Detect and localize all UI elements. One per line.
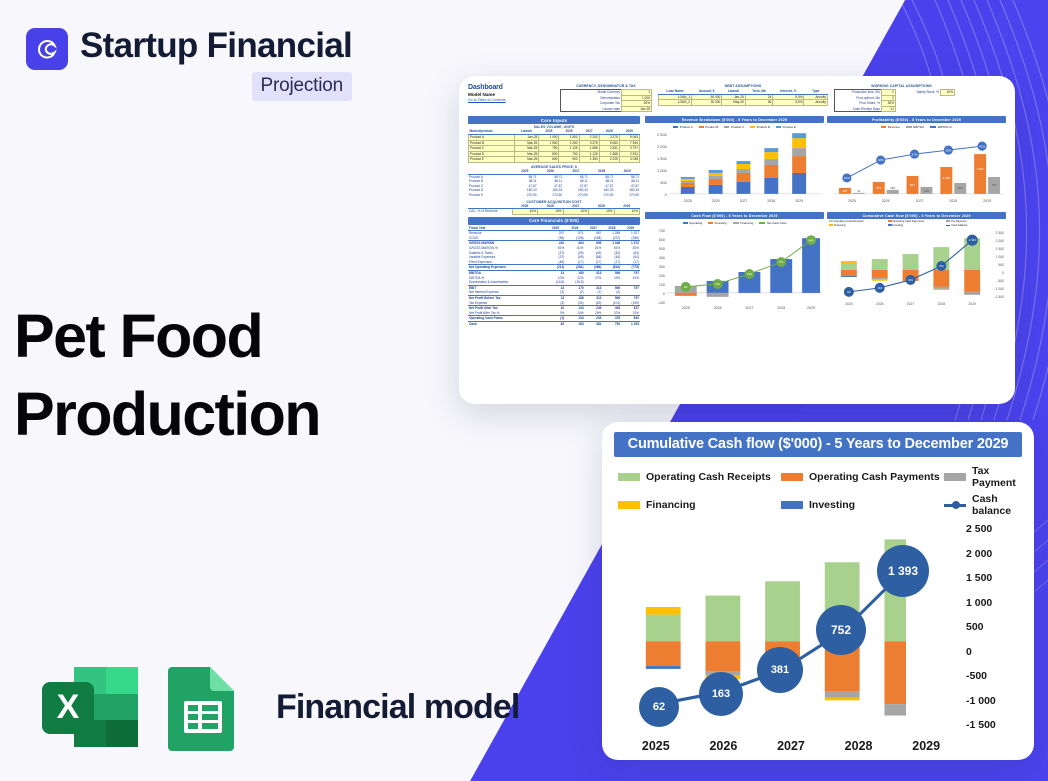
svg-text:101: 101	[715, 282, 720, 286]
svg-text:2028: 2028	[938, 302, 946, 306]
mini-chart-legend: Operating Investing Financing Net Cash F…	[645, 219, 824, 226]
svg-text:1 000: 1 000	[996, 255, 1005, 259]
svg-text:218: 218	[747, 273, 752, 277]
svg-text:2029: 2029	[807, 306, 815, 310]
data-point-bubble: 1 393	[877, 545, 929, 597]
mini-chart-title: Cash Flow ($'000) - 5 Years to December …	[645, 212, 824, 219]
svg-text:2 000: 2 000	[996, 240, 1005, 244]
working-capital-section-header: WORKING CAPITAL ASSUMPTIONS	[834, 84, 969, 88]
legend-line-cash-balance	[944, 504, 966, 507]
svg-text:400: 400	[659, 256, 665, 260]
page-title-line1: Pet Food	[14, 297, 320, 375]
data-point-bubble: 381	[757, 647, 803, 693]
svg-text:62: 62	[684, 285, 688, 289]
svg-text:185: 185	[890, 186, 895, 190]
legend-item: Operating Cash Payments	[781, 465, 944, 489]
svg-text:640: 640	[809, 239, 814, 243]
chart-x-axis-labels: 2025 2026 2027 2028 2029	[622, 739, 960, 753]
table-of-contents-link[interactable]: Go to Table of Contents	[468, 98, 554, 102]
mini-chart-plot: 10%32% 37%39% 41% 297571 8571 085 1 927 …	[827, 130, 1006, 208]
svg-text:381: 381	[908, 278, 913, 282]
svg-text:37%: 37%	[912, 153, 918, 157]
model-name-label: Model Name	[468, 92, 554, 97]
mini-chart-legend: Product A Product B Product C Product D …	[645, 123, 824, 130]
svg-text:1 393: 1 393	[969, 239, 977, 243]
legend-swatch-operating-cash-payments	[781, 473, 803, 481]
debt-table-row[interactable]: LOAN_2 30 000 May-25 36 5,0% Annuity	[659, 100, 828, 106]
page-title: Pet Food Production	[14, 297, 320, 453]
legend-item: Tax Payment	[944, 465, 1022, 489]
svg-text:2029: 2029	[968, 302, 976, 306]
svg-text:-1 000: -1 000	[994, 287, 1004, 291]
debt-section-header: DEBT ASSUMPTIONS	[658, 84, 828, 88]
legend-swatch-financing	[618, 501, 640, 509]
google-sheets-icon	[164, 661, 242, 753]
svg-text:200: 200	[659, 274, 665, 278]
svg-text:2 000: 2 000	[657, 144, 668, 149]
svg-text:2026: 2026	[876, 302, 884, 306]
mini-chart-plot: 2 500 2 000 1 500 1 000 500 0	[645, 130, 824, 208]
mini-chart-plot: 700 600 500 400 300 200 100 0 -100	[645, 226, 824, 314]
svg-text:X: X	[57, 688, 80, 726]
svg-text:300: 300	[659, 265, 665, 269]
row-value: 62	[546, 321, 565, 326]
chart-title: Cumulative Cash flow ($'000) - 5 Years t…	[614, 432, 1022, 457]
mini-chart-legend: Revenue EBITDA EBITDA %	[827, 123, 1006, 130]
svg-text:2025: 2025	[848, 199, 856, 203]
brand-subtitle: Projection	[252, 72, 353, 101]
svg-text:1 500: 1 500	[657, 156, 668, 161]
svg-text:2029: 2029	[795, 199, 803, 203]
legend-item: Operating Cash Receipts	[618, 465, 781, 489]
file-format-label: Financial model	[276, 688, 519, 727]
chart-plot-area: 62 163 381 752 1 393 2 500 2 000 1 500 1…	[614, 527, 1022, 727]
svg-text:100: 100	[659, 283, 665, 287]
row-value: 163	[565, 321, 584, 326]
svg-text:1 000: 1 000	[657, 168, 668, 173]
svg-text:2027: 2027	[745, 306, 753, 310]
legend-swatch-operating-cash-receipts	[618, 473, 640, 481]
svg-text:2026: 2026	[882, 199, 890, 203]
svg-text:10%: 10%	[844, 177, 850, 181]
page-title-line2: Production	[14, 375, 320, 453]
launch-date-row-label: Launch date	[561, 106, 622, 112]
legend-swatch-tax-payment	[944, 473, 966, 481]
svg-text:2 500: 2 500	[657, 133, 668, 138]
svg-text:500: 500	[659, 247, 665, 251]
launch-date-row-value[interactable]: Jan-25	[622, 106, 652, 112]
core-financials-band: Core Financials ($'000)	[468, 217, 640, 225]
mini-chart-revenue-breakdown[interactable]: Revenue Breakdown ($'000) - 5 Years to D…	[645, 116, 824, 209]
svg-text:600: 600	[659, 239, 665, 243]
svg-text:2029: 2029	[983, 199, 991, 203]
svg-text:857: 857	[910, 183, 915, 187]
brand-logo: Startup Financial Projection	[26, 24, 352, 101]
svg-text:797: 797	[992, 183, 997, 187]
svg-text:62: 62	[847, 290, 851, 294]
svg-text:39%: 39%	[945, 149, 951, 153]
svg-text:1 927: 1 927	[976, 167, 984, 171]
svg-text:32%: 32%	[878, 159, 884, 163]
svg-text:-500: -500	[997, 279, 1004, 283]
svg-text:-100: -100	[658, 301, 665, 305]
svg-text:2027: 2027	[739, 199, 747, 203]
svg-text:2025: 2025	[845, 302, 853, 306]
data-point-bubble: 752	[816, 605, 866, 655]
svg-text:0: 0	[1002, 271, 1004, 275]
svg-text:31: 31	[857, 189, 861, 193]
cumulative-cash-flow-chart-card[interactable]: Cumulative Cash flow ($'000) - 5 Years t…	[602, 422, 1034, 760]
chart-y-axis-labels: 2 500 2 000 1 500 1 000 500 0 -500 -1 00…	[966, 523, 1022, 731]
svg-text:500: 500	[660, 180, 667, 185]
svg-text:2028: 2028	[777, 306, 785, 310]
dashboard-screenshot-card[interactable]: Dashboard Model Name Go to Table of Cont…	[459, 76, 1015, 404]
svg-text:1 500: 1 500	[996, 247, 1005, 251]
file-format-row: X Financial model	[36, 661, 519, 753]
mini-chart-title: Revenue Breakdown ($'000) - 5 Years to D…	[645, 116, 824, 123]
table-row[interactable]: Product E 270,50 270,50 270,50 270,50 27…	[468, 193, 640, 198]
svg-text:2028: 2028	[767, 199, 775, 203]
table-row[interactable]: CAC, % of Revenue 10% 10% 10% 10% 10%	[468, 209, 640, 215]
svg-text:0: 0	[665, 192, 668, 197]
legend-item: Investing	[781, 493, 944, 517]
svg-text:1 085: 1 085	[943, 176, 951, 180]
mini-chart-title: Cumulative Cash flow ($'000) - 5 Years t…	[827, 212, 1006, 219]
chart-legend: Operating Cash Receipts Operating Cash P…	[614, 465, 1022, 517]
svg-text:2027: 2027	[915, 199, 923, 203]
row-value: 1 393	[621, 321, 640, 326]
svg-text:313: 313	[924, 189, 929, 193]
mini-chart-plot: 2 500 2 000 1 500 1 000 500 0 -500 -1 00…	[827, 228, 1006, 310]
svg-text:2025: 2025	[684, 199, 692, 203]
svg-text:163: 163	[877, 286, 882, 290]
legend-item: Financing	[618, 493, 781, 517]
svg-text:2026: 2026	[714, 306, 722, 310]
dashboard-title: Dashboard	[468, 84, 554, 91]
startup-financial-logo-icon	[26, 28, 68, 70]
mini-chart-title: Profitability ($'000) - 5 Years to Decem…	[827, 116, 1006, 123]
svg-text:571: 571	[876, 186, 881, 190]
legend-swatch-investing	[781, 501, 803, 509]
mini-chart-cumulative-cash-flow[interactable]: Cumulative Cash flow ($'000) - 5 Years t…	[827, 212, 1006, 315]
svg-text:506: 506	[958, 186, 963, 190]
data-point-bubble: 163	[699, 672, 743, 716]
svg-text:2025: 2025	[682, 306, 690, 310]
svg-text:500: 500	[998, 263, 1004, 267]
svg-text:700: 700	[659, 230, 665, 234]
mini-chart-cash-flow[interactable]: Cash Flow ($'000) - 5 Years to December …	[645, 212, 824, 315]
core-inputs-band: Core Inputs	[468, 116, 640, 124]
svg-text:752: 752	[939, 264, 944, 268]
svg-text:-1 500: -1 500	[994, 295, 1004, 299]
table-row[interactable]: Cash621633817521 393	[468, 321, 640, 326]
svg-text:371: 371	[779, 261, 784, 265]
svg-text:41%: 41%	[979, 145, 985, 149]
row-label: Cash	[468, 321, 546, 326]
mini-chart-profitability[interactable]: Profitability ($'000) - 5 Years to Decem…	[827, 116, 1006, 209]
svg-text:2026: 2026	[712, 199, 720, 203]
svg-text:297: 297	[842, 189, 847, 193]
legend-item: Cash balance	[944, 493, 1022, 517]
brand-title: Startup Financial	[80, 24, 352, 68]
mini-chart-legend: Operating Cash Receipts Operating Cash P…	[827, 219, 1006, 228]
svg-text:2027: 2027	[907, 302, 915, 306]
row-value: 752	[602, 321, 621, 326]
svg-text:0: 0	[663, 292, 665, 296]
currency-section-header: CURRENCY, DENOMINATOR & TAX	[560, 84, 652, 88]
debt-table-row[interactable]: LOAN_1 50 000 Jan-25 24 5,0% Annuity	[659, 94, 828, 100]
data-point-bubble: 62	[639, 687, 679, 727]
chart-data-labels: 62 163 381 752 1 393	[614, 527, 906, 727]
excel-file-icon: X	[36, 661, 144, 753]
table-row[interactable]: Product E Mar-25 600 900 1 350 2 025 3 0…	[469, 157, 640, 163]
svg-text:2028: 2028	[949, 199, 957, 203]
row-value: 381	[585, 321, 603, 326]
svg-text:2 500: 2 500	[996, 232, 1005, 236]
